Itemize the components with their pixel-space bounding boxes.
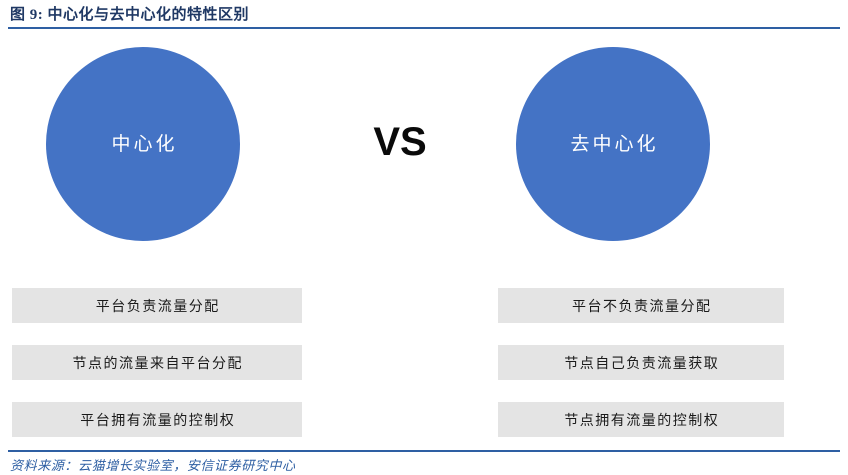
right-attribute-label: 平台不负责流量分配 xyxy=(571,296,712,316)
figure-header: 图 9: 中心化与去中心化的特性区别 xyxy=(0,0,848,30)
vs-label: VS xyxy=(355,122,445,162)
right-attribute-box: 平台不负责流量分配 xyxy=(498,288,784,323)
right-attribute-label: 节点拥有流量的控制权 xyxy=(563,410,720,430)
header-divider xyxy=(8,27,840,29)
left-attribute-box: 平台负责流量分配 xyxy=(12,288,302,323)
right-attribute-label: 节点自己负责流量获取 xyxy=(563,353,720,373)
footer-divider xyxy=(8,450,840,452)
right-attribute-box: 节点拥有流量的控制权 xyxy=(498,402,784,437)
figure-root: 图 9: 中心化与去中心化的特性区别 中心化 VS 去中心化 平台负责流量分配 … xyxy=(0,0,848,475)
source-note: 资料来源：云猫增长实验室，安信证券研究中心 xyxy=(10,455,296,474)
left-attribute-label: 平台拥有流量的控制权 xyxy=(79,410,236,430)
centralized-circle-label: 中心化 xyxy=(108,135,177,154)
decentralized-circle-label: 去中心化 xyxy=(567,135,658,154)
decentralized-circle: 去中心化 xyxy=(516,47,710,241)
left-attribute-label: 平台负责流量分配 xyxy=(94,296,220,316)
figure-title: 图 9: 中心化与去中心化的特性区别 xyxy=(10,3,249,24)
centralized-circle: 中心化 xyxy=(46,47,240,241)
figure-footer: 资料来源：云猫增长实验室，安信证券研究中心 xyxy=(0,448,848,475)
left-attribute-box: 节点的流量来自平台分配 xyxy=(12,345,302,380)
left-attribute-box: 平台拥有流量的控制权 xyxy=(12,402,302,437)
diagram-canvas: 中心化 VS 去中心化 平台负责流量分配 节点的流量来自平台分配 平台拥有流量的… xyxy=(0,30,848,448)
left-attribute-label: 节点的流量来自平台分配 xyxy=(71,353,243,373)
right-attribute-box: 节点自己负责流量获取 xyxy=(498,345,784,380)
